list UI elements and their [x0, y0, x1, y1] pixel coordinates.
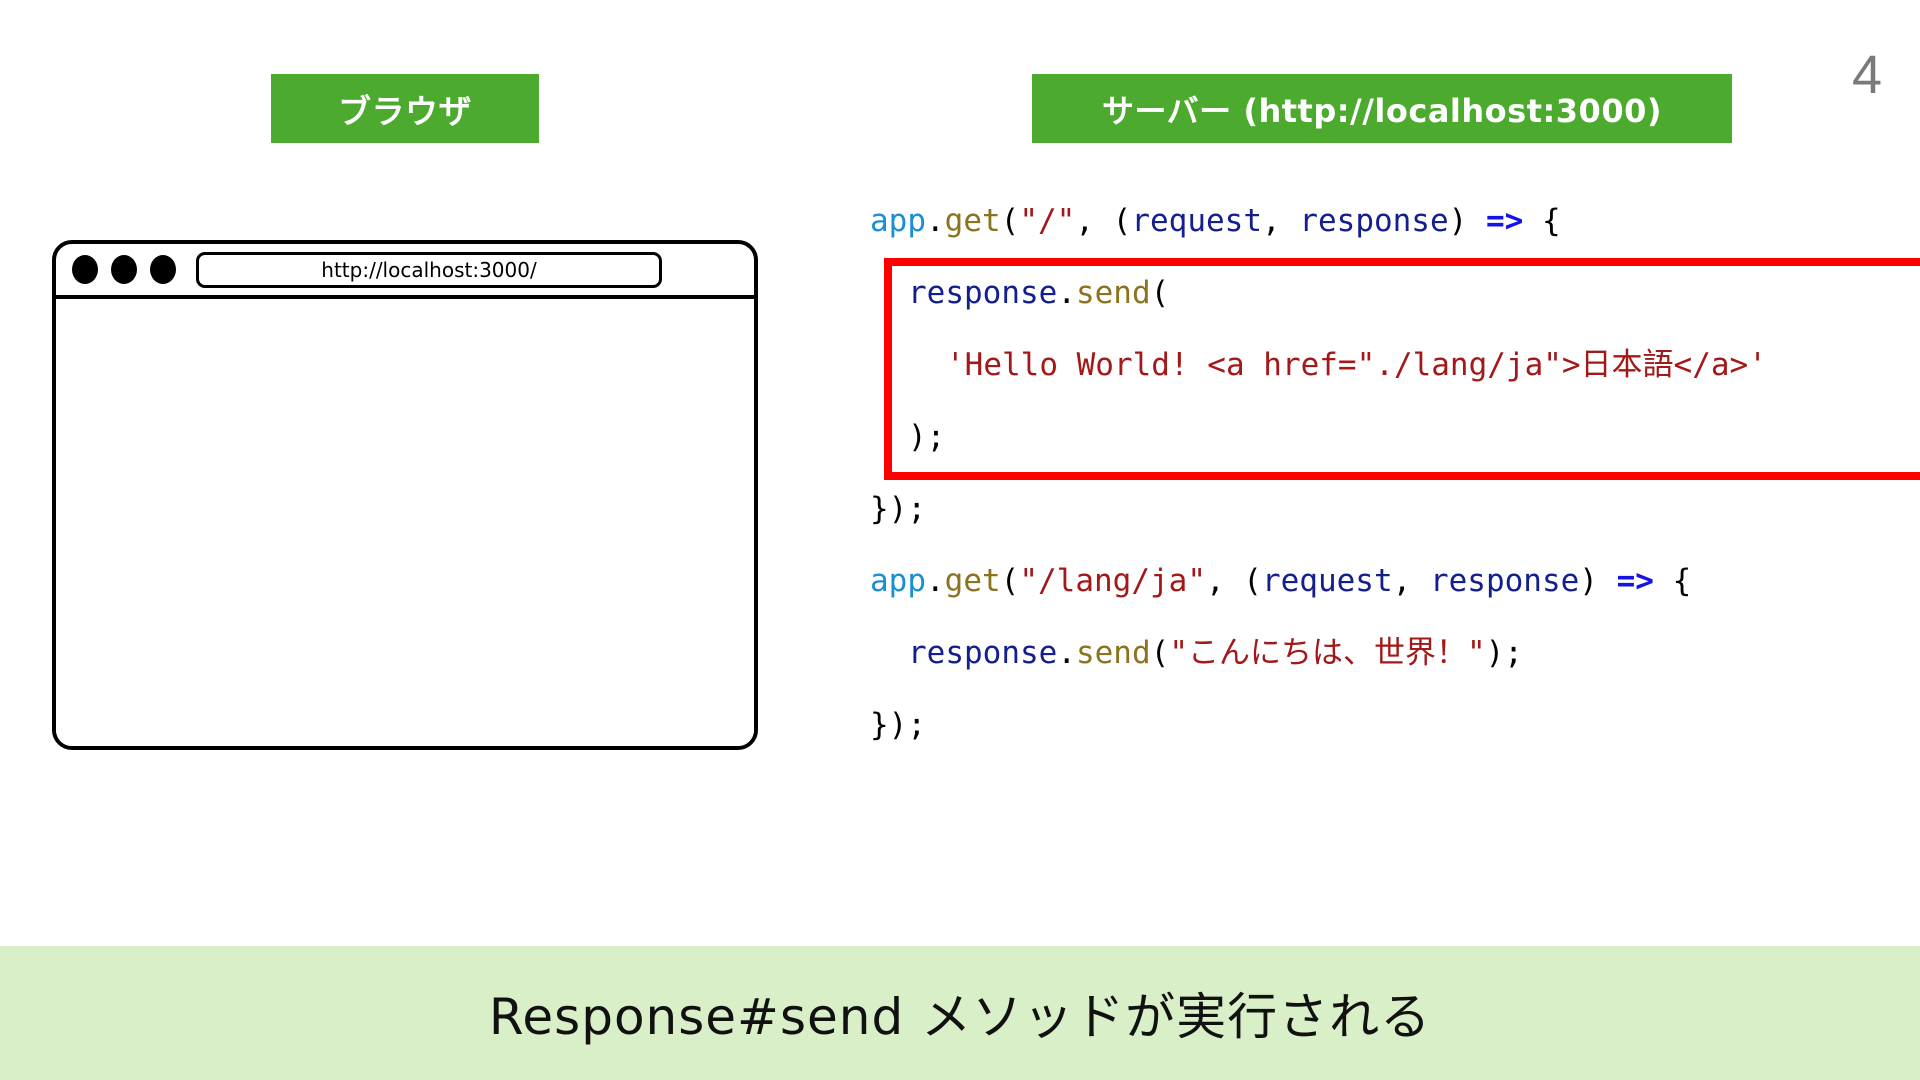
- code-line: });: [870, 473, 1890, 545]
- close-dot-icon[interactable]: [72, 255, 98, 284]
- code-token: app: [870, 203, 926, 239]
- code-token: {: [1654, 563, 1691, 599]
- browser-mockup: http://localhost:3000/: [52, 240, 758, 750]
- code-token: "/lang/ja": [1019, 563, 1206, 599]
- code-token: ,: [1262, 203, 1299, 239]
- code-token: (: [1151, 635, 1170, 671]
- code-token: , (: [1075, 203, 1131, 239]
- code-token: ): [1449, 203, 1486, 239]
- window-controls: [72, 255, 176, 284]
- code-line: response.send(: [870, 257, 1890, 329]
- address-bar-url: http://localhost:3000/: [321, 258, 536, 282]
- code-token: =>: [1486, 203, 1523, 239]
- banner-server: サーバー (http://localhost:3000): [1032, 74, 1732, 143]
- banner-browser-label: ブラウザ: [338, 85, 472, 133]
- code-token: .: [1057, 275, 1076, 311]
- code-token: response: [1299, 203, 1448, 239]
- code-token: =>: [1617, 563, 1654, 599]
- code-token: response: [908, 275, 1057, 311]
- code-token: "こんにちは、世界！": [1169, 635, 1485, 671]
- minimize-dot-icon[interactable]: [111, 255, 137, 284]
- code-line: app.get("/", (request, response) => {: [870, 185, 1890, 257]
- browser-viewport: [56, 299, 754, 746]
- code-token: response: [1430, 563, 1579, 599]
- code-token: request: [1262, 563, 1393, 599]
- code-token: {: [1523, 203, 1560, 239]
- code-token: );: [908, 419, 945, 455]
- code-token: (: [1151, 275, 1170, 311]
- code-token: ): [1579, 563, 1616, 599]
- code-token: .: [926, 563, 945, 599]
- browser-chrome: http://localhost:3000/: [56, 244, 754, 299]
- code-token: });: [870, 491, 926, 527]
- code-token: , (: [1206, 563, 1262, 599]
- code-token: "/": [1019, 203, 1075, 239]
- code-token: (: [1001, 563, 1020, 599]
- banner-browser: ブラウザ: [271, 74, 539, 143]
- code-line: 'Hello World! <a href="./lang/ja">日本語</a…: [870, 329, 1890, 401]
- code-token: );: [1486, 635, 1523, 671]
- code-token: send: [1076, 275, 1151, 311]
- code-token: });: [870, 707, 926, 743]
- code-token: .: [926, 203, 945, 239]
- code-panel: app.get("/", (request, response) => {res…: [870, 185, 1890, 761]
- address-bar[interactable]: http://localhost:3000/: [196, 252, 662, 288]
- banner-server-label: サーバー (http://localhost:3000): [1102, 86, 1662, 132]
- code-token: get: [945, 203, 1001, 239]
- code-line: response.send("こんにちは、世界！");: [870, 617, 1890, 689]
- code-token: send: [1076, 635, 1151, 671]
- code-line: });: [870, 689, 1890, 761]
- code-token: ,: [1393, 563, 1430, 599]
- code-token: (: [1001, 203, 1020, 239]
- code-token: 'Hello World! <a href="./lang/ja">日本語</a…: [946, 347, 1767, 383]
- code-token: response: [908, 635, 1057, 671]
- page-number: 4: [1852, 48, 1882, 102]
- code-token: get: [945, 563, 1001, 599]
- code-line: );: [870, 401, 1890, 473]
- caption-bar: Response#send メソッドが実行される: [0, 946, 1920, 1080]
- caption-text: Response#send メソッドが実行される: [489, 977, 1431, 1049]
- maximize-dot-icon[interactable]: [150, 255, 176, 284]
- code-token: .: [1057, 635, 1076, 671]
- code-token: request: [1131, 203, 1262, 239]
- code-token: app: [870, 563, 926, 599]
- code-line: app.get("/lang/ja", (request, response) …: [870, 545, 1890, 617]
